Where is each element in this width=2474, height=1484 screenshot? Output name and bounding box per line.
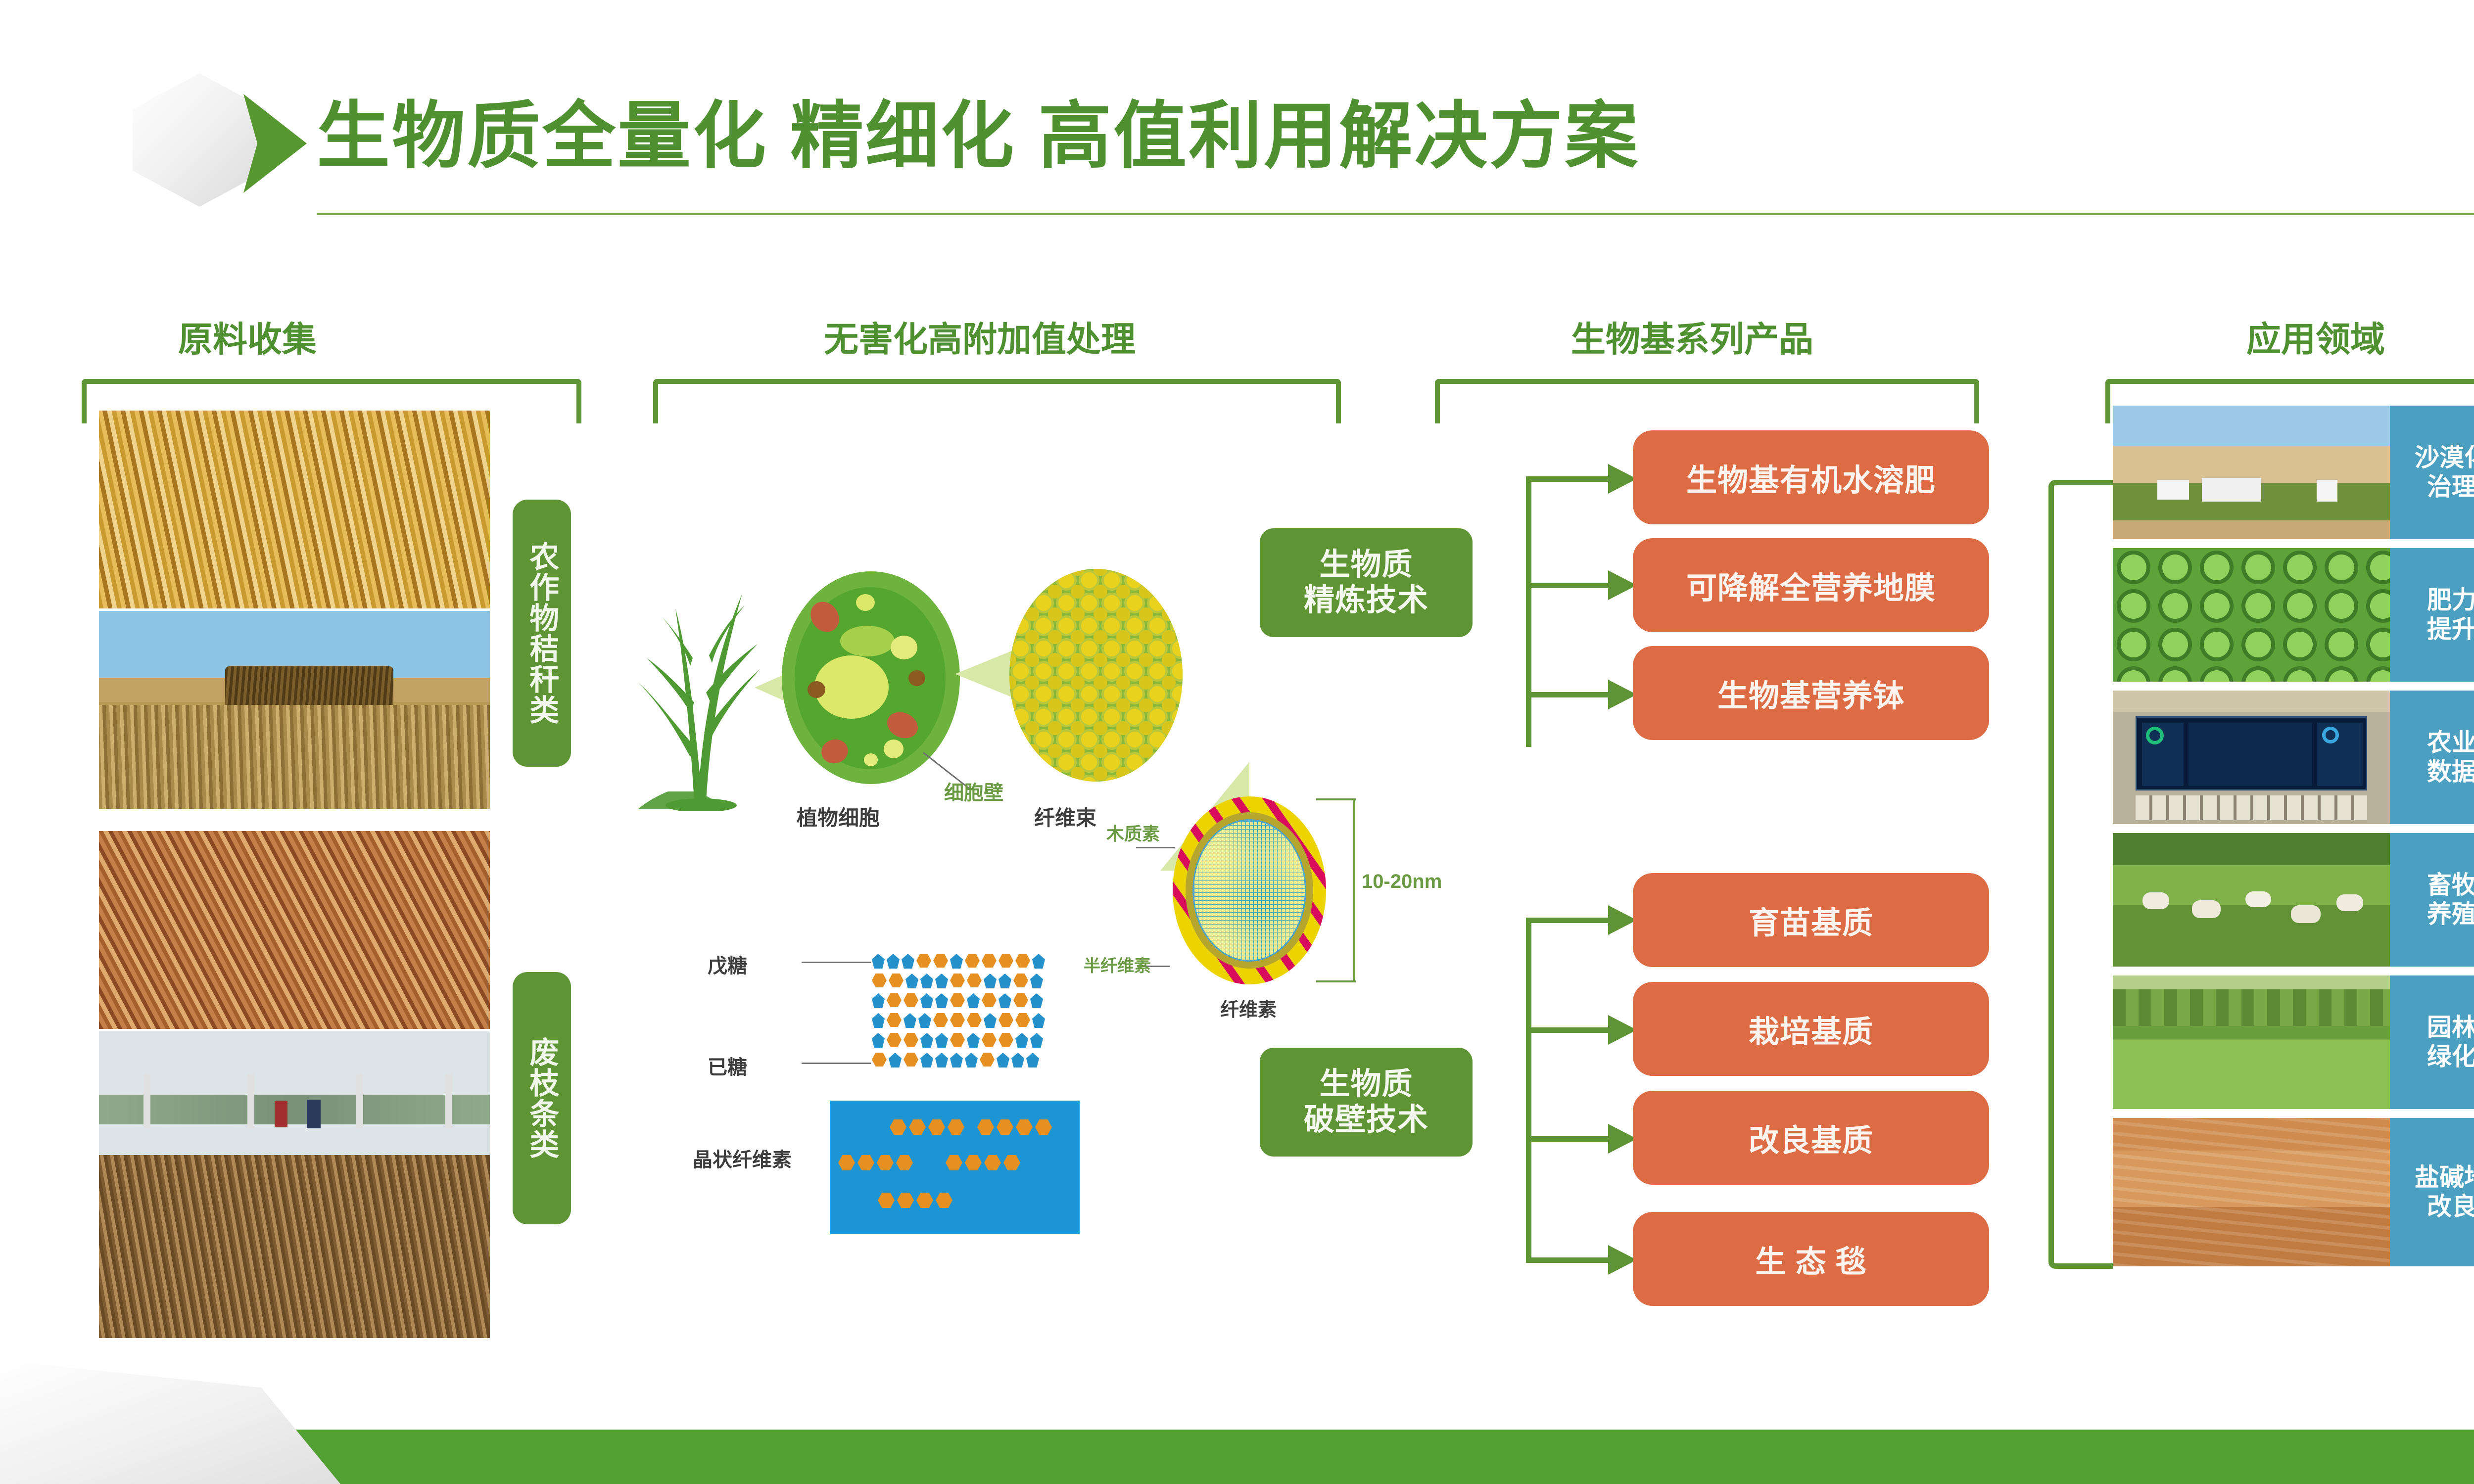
info-signboard xyxy=(2317,480,2337,502)
vacuole xyxy=(814,655,889,719)
hexose-unit-icon xyxy=(933,954,948,968)
glucose-unit-icon xyxy=(896,1155,913,1170)
glucose-unit-icon xyxy=(936,1193,952,1208)
fiber-bundle-illustration xyxy=(1009,569,1183,782)
category-label-crop-straw: 农作物秸秆类 xyxy=(513,500,571,767)
application-tag-saline-alkali: 盐碱地 改良 xyxy=(2390,1118,2474,1266)
pentose-unit-icon xyxy=(918,1013,931,1028)
pentose-unit-icon xyxy=(967,1033,980,1048)
connector-branch xyxy=(1526,692,1610,697)
application-tag-livestock: 畜牧 养殖 xyxy=(2390,833,2474,967)
product-box-biodegradable-mulch-film[interactable]: 可降解全营养地膜 xyxy=(1633,538,1989,632)
hexose-unit-icon xyxy=(904,993,918,1007)
app-tag-line-2: 提升 xyxy=(2427,615,2474,644)
glucose-unit-icon xyxy=(1016,1119,1033,1135)
pentose-unit-icon xyxy=(984,1013,997,1028)
photo-sheep-grazing-meadow xyxy=(2113,833,2390,967)
pentose-unit-icon xyxy=(1032,954,1045,969)
bracket-bio-products xyxy=(1435,379,1979,423)
hexose-unit-icon xyxy=(889,974,904,987)
label-pentose: 戊糖 xyxy=(708,950,747,978)
glucose-unit-icon xyxy=(977,1119,994,1135)
microfibril-illustration xyxy=(1173,796,1326,984)
connector-branch xyxy=(1526,1027,1610,1033)
sheep-shape xyxy=(2245,891,2271,907)
app-tag-line-1: 沙漠化 xyxy=(2415,443,2474,472)
sugar-chain-row xyxy=(872,1053,1039,1067)
page-header: 生物质全量化 精细化 高值利用解决方案 xyxy=(0,0,2474,232)
organelle-shape xyxy=(891,636,917,659)
hexose-unit-icon xyxy=(887,1013,902,1027)
crystalline-cellulose-panel xyxy=(830,1101,1080,1234)
size-dimension-line xyxy=(1353,798,1355,982)
hexose-unit-icon xyxy=(887,1033,902,1047)
organelle-shape xyxy=(840,626,895,656)
section-title-raw-material: 原料收集 xyxy=(69,312,426,362)
app-tag-line-1: 农业 xyxy=(2427,728,2474,757)
app-tag-line-1: 肥力 xyxy=(2427,586,2474,615)
pentose-unit-icon xyxy=(1026,1053,1039,1067)
application-tag-soil-fertility: 肥力 提升 xyxy=(2390,548,2474,682)
application-row-saline-alkali[interactable]: 盐碱地 改良 xyxy=(2113,1118,2474,1266)
pentose-unit-icon xyxy=(1011,1053,1024,1067)
label-cellulose: 纤维素 xyxy=(1220,994,1277,1021)
pentose-unit-icon xyxy=(935,974,948,988)
organelle-shape xyxy=(856,594,875,611)
size-dimension-tick xyxy=(1316,980,1356,982)
hexose-unit-icon xyxy=(1015,954,1030,968)
hexose-leader-line xyxy=(802,1063,871,1064)
organelle-shape xyxy=(864,753,878,766)
organelle-shape xyxy=(884,740,904,758)
application-tag-agri-data: 农业 数据 xyxy=(2390,691,2474,824)
hexose-unit-icon xyxy=(980,1053,995,1067)
hill-horizon xyxy=(99,1095,490,1124)
sugar-chain-row xyxy=(872,1013,1045,1028)
product-box-improvement-substrate[interactable]: 改良基质 xyxy=(1633,1091,1989,1185)
pentose-unit-icon xyxy=(1030,1033,1043,1048)
pentose-unit-icon xyxy=(872,1013,885,1028)
label-plant-cell: 植物细胞 xyxy=(797,801,880,832)
pentose-unit-icon xyxy=(1030,993,1043,1008)
hexose-unit-icon xyxy=(1013,974,1028,987)
hexose-unit-icon xyxy=(967,1013,982,1027)
product-box-bio-nutrient-pot[interactable]: 生物基营养钵 xyxy=(1633,646,1989,740)
label-crystalline-cellulose: 晶状纤维素 xyxy=(693,1144,792,1172)
section-title-bio-products: 生物基系列产品 xyxy=(1415,312,1969,362)
organelle-shape xyxy=(808,681,825,698)
pentose-unit-icon xyxy=(999,974,1011,988)
label-fibril-size: 10-20nm xyxy=(1362,871,1442,893)
sheep-shape xyxy=(2142,892,2169,909)
hexose-unit-icon xyxy=(916,954,931,968)
hexose-unit-icon xyxy=(982,954,997,968)
hexose-unit-icon xyxy=(887,993,902,1007)
application-row-agri-data[interactable]: 农业 数据 xyxy=(2113,691,2474,824)
screen-map-panel xyxy=(2189,723,2312,786)
photo-agri-data-control-room xyxy=(2113,691,2390,824)
worker-figure xyxy=(307,1100,321,1128)
straw-bale-shape xyxy=(225,666,393,708)
pentose-unit-icon xyxy=(920,1053,933,1067)
section-title-processing: 无害化高附加值处理 xyxy=(633,312,1326,362)
pentose-unit-icon xyxy=(965,1053,978,1067)
hexose-unit-icon xyxy=(967,974,982,987)
glucose-unit-icon xyxy=(997,1119,1013,1135)
pentose-unit-icon xyxy=(904,1013,916,1028)
application-tag-desertification: 沙漠化 治理 xyxy=(2390,406,2474,539)
soil-furrow-texture xyxy=(2113,1118,2390,1266)
pentose-unit-icon xyxy=(1015,1033,1028,1048)
pentose-unit-icon xyxy=(905,974,918,988)
app-tag-line-2: 治理 xyxy=(2427,472,2474,502)
organelle-shape xyxy=(908,670,925,686)
hexose-unit-icon xyxy=(999,1033,1013,1047)
photo-saline-alkali-land xyxy=(2113,1118,2390,1266)
page-title: 生物质全量化 精细化 高值利用解决方案 xyxy=(317,98,1640,175)
stubble-field-texture xyxy=(99,705,490,809)
label-fiber-bundle: 纤维束 xyxy=(1034,801,1096,832)
glucose-unit-icon xyxy=(909,1119,926,1135)
title-underline-divider xyxy=(317,213,2474,215)
glucose-unit-icon xyxy=(928,1119,945,1135)
application-tag-landscaping: 园林 绿化 xyxy=(2390,975,2474,1109)
bracket-processing xyxy=(653,379,1341,423)
trellis-post xyxy=(143,1074,150,1128)
photo-landscaped-park-lawn xyxy=(2113,975,2390,1109)
app-tag-line-1: 园林 xyxy=(2427,1013,2474,1042)
glucose-unit-icon xyxy=(857,1155,874,1170)
hexose-unit-icon xyxy=(999,1013,1013,1027)
glucose-unit-icon xyxy=(965,1155,982,1170)
pentose-unit-icon xyxy=(935,993,948,1008)
glucose-unit-icon xyxy=(1003,1155,1020,1170)
pentose-unit-icon xyxy=(950,1053,963,1067)
pentose-unit-icon xyxy=(920,1033,933,1048)
app-tag-line-2: 养殖 xyxy=(2427,900,2474,929)
donut-chart-icon xyxy=(2322,727,2339,743)
crystal-chain-row xyxy=(890,1119,1052,1135)
hexose-unit-icon xyxy=(950,974,965,987)
connector-branch xyxy=(1526,918,1610,923)
plant-cell-illustration xyxy=(782,571,960,784)
label-cell-wall: 细胞壁 xyxy=(944,777,1003,805)
pentose-unit-icon xyxy=(1030,974,1043,988)
application-row-landscaping[interactable]: 园林 绿化 xyxy=(2113,975,2474,1109)
hexose-unit-icon xyxy=(950,1033,965,1047)
hexose-unit-icon xyxy=(1013,993,1028,1007)
tech-box-refining[interactable]: 生物质 精炼技术 xyxy=(1260,528,1473,637)
connector-trunk-breaking xyxy=(1526,918,1531,1263)
glucose-unit-icon xyxy=(897,1193,914,1208)
hexose-unit-icon xyxy=(950,1013,965,1027)
application-bracket xyxy=(2048,480,2113,1269)
photo-desert-control-site xyxy=(2113,406,2390,539)
pentose-unit-icon xyxy=(967,993,980,1008)
product-box-seedling-substrate[interactable]: 育苗基质 xyxy=(1633,873,1989,967)
pentose-unit-icon xyxy=(872,1033,885,1048)
fiber-cross-section-texture xyxy=(1009,569,1183,782)
sheep-shape xyxy=(2192,900,2221,918)
hexose-unit-icon xyxy=(904,1033,918,1047)
tree-row xyxy=(2113,989,2390,1026)
photo-straw-field-bale xyxy=(99,611,490,809)
sugar-chain-row xyxy=(872,1033,1043,1048)
application-row-desertification[interactable]: 沙漠化 治理 xyxy=(2113,406,2474,539)
photo-orchard-pruning-field xyxy=(99,1031,490,1338)
connector-branch xyxy=(1526,476,1610,482)
hexose-unit-icon xyxy=(904,1053,918,1067)
app-tag-line-2: 改良 xyxy=(2427,1192,2474,1221)
app-tag-line-1: 畜牧 xyxy=(2427,871,2474,900)
hexose-unit-icon xyxy=(872,1053,887,1067)
product-box-organic-water-soluble-fertilizer[interactable]: 生物基有机水溶肥 xyxy=(1633,430,1989,524)
lignin-leader-line xyxy=(1136,847,1175,848)
photo-pruned-branches-closeup xyxy=(99,831,490,1029)
application-row-livestock[interactable]: 畜牧 养殖 xyxy=(2113,833,2474,967)
glucose-unit-icon xyxy=(890,1119,906,1135)
glucose-unit-icon xyxy=(946,1155,962,1170)
section-title-applications: 应用领域 xyxy=(2093,312,2474,362)
application-row-soil-fertility[interactable]: 肥力 提升 xyxy=(2113,548,2474,682)
pentose-unit-icon xyxy=(984,974,997,988)
label-hemicellulose: 半纤维素 xyxy=(1084,952,1151,976)
pentose-leader-line xyxy=(802,962,871,963)
console-desk-row xyxy=(2136,795,2367,820)
connector-trunk-refining xyxy=(1526,476,1531,747)
tech-line-1: 生物质 xyxy=(1319,1067,1413,1102)
pentose-unit-icon xyxy=(920,993,933,1008)
glucose-unit-icon xyxy=(984,1155,1001,1170)
pentose-unit-icon xyxy=(887,954,900,969)
tech-box-cell-wall-breaking[interactable]: 生物质 破壁技术 xyxy=(1260,1048,1473,1157)
hexose-unit-icon xyxy=(1015,1013,1030,1027)
crystal-chain-row xyxy=(838,1155,1020,1170)
pentose-unit-icon xyxy=(902,954,914,969)
hexose-unit-icon xyxy=(982,1033,997,1047)
hexose-unit-icon xyxy=(982,993,997,1007)
trellis-post xyxy=(247,1074,254,1128)
connector-branch xyxy=(1526,583,1610,588)
info-signboard xyxy=(2202,478,2261,502)
hexose-unit-icon xyxy=(965,954,980,968)
product-box-ecological-blanket[interactable]: 生 态 毯 xyxy=(1633,1212,1989,1306)
footer-bar xyxy=(0,1430,2474,1484)
pentose-unit-icon xyxy=(1032,1013,1045,1028)
label-hexose: 已糖 xyxy=(708,1051,747,1080)
tech-line-1: 生物质 xyxy=(1319,547,1413,583)
label-lignin: 木质素 xyxy=(1106,820,1160,845)
pentose-unit-icon xyxy=(999,993,1011,1008)
tech-line-2: 精炼技术 xyxy=(1304,583,1428,618)
hexose-unit-icon xyxy=(999,954,1013,968)
pentose-unit-icon xyxy=(920,974,933,988)
branch-pile-texture xyxy=(99,1155,490,1338)
sheep-shape xyxy=(2336,894,2363,911)
product-box-cultivation-substrate[interactable]: 栽培基质 xyxy=(1633,982,1989,1076)
glucose-unit-icon xyxy=(916,1193,933,1208)
pentose-unit-icon xyxy=(997,1053,1009,1067)
pentose-unit-icon xyxy=(872,954,885,969)
sugar-chain-row xyxy=(872,954,1045,969)
trellis-post xyxy=(356,1074,363,1128)
pentose-unit-icon xyxy=(889,1053,902,1067)
connector-branch xyxy=(1526,1257,1610,1263)
category-label-waste-branches: 废枝条类 xyxy=(513,972,571,1224)
pentose-unit-icon xyxy=(935,1053,948,1067)
info-signboard xyxy=(2157,480,2189,500)
pentose-unit-icon xyxy=(872,993,885,1008)
app-tag-line-2: 数据 xyxy=(2427,757,2474,787)
glucose-unit-icon xyxy=(1035,1119,1052,1135)
worker-figure xyxy=(275,1101,287,1127)
donut-chart-icon xyxy=(2146,727,2164,744)
rice-plant-icon xyxy=(621,534,784,811)
hexose-unit-icon xyxy=(950,993,965,1007)
glucose-unit-icon xyxy=(878,1193,895,1208)
connector-branch xyxy=(1526,1136,1610,1142)
glucose-unit-icon xyxy=(877,1155,894,1170)
app-tag-line-1: 盐碱地 xyxy=(2415,1163,2474,1192)
pentose-unit-icon xyxy=(950,954,963,969)
pentose-unit-icon xyxy=(935,1033,948,1048)
sugar-chain-row xyxy=(872,993,1043,1008)
hexose-unit-icon xyxy=(872,974,887,987)
photo-corn-stover-pile xyxy=(99,411,490,608)
size-dimension-tick xyxy=(1316,798,1356,800)
sugar-chain-row xyxy=(872,974,1043,988)
tech-line-2: 破壁技术 xyxy=(1304,1102,1428,1138)
trellis-post xyxy=(445,1074,452,1128)
photo-cabbage-field xyxy=(2113,548,2390,682)
app-tag-line-2: 绿化 xyxy=(2427,1042,2474,1071)
sheep-shape xyxy=(2291,905,2321,923)
glucose-unit-icon xyxy=(948,1119,964,1135)
data-wall-screen xyxy=(2136,716,2367,790)
cellulose-core xyxy=(1192,819,1306,962)
hexose-unit-icon xyxy=(933,1013,948,1027)
glucose-unit-icon xyxy=(838,1155,855,1170)
crystal-chain-row xyxy=(878,1193,952,1208)
